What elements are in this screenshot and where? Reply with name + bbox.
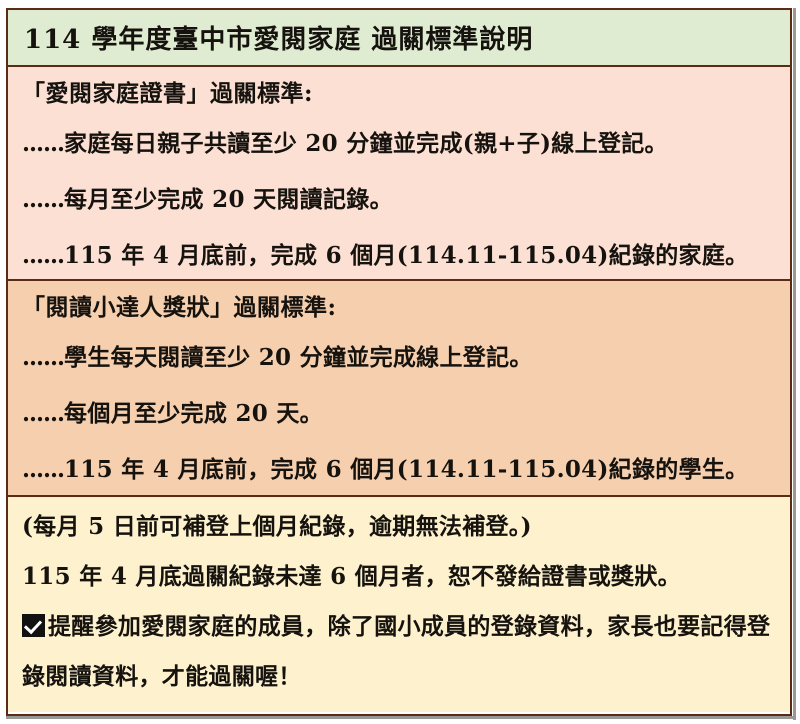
list-item: ......每月至少完成 20 天閱讀記錄。 — [22, 172, 776, 228]
bullet-marker: ...... — [22, 242, 64, 269]
bullet-marker: ...... — [22, 344, 64, 371]
standards-table: 114 學年度臺中市愛閱家庭 過關標準說明 「愛閱家庭證書」過關標準: ....… — [6, 8, 792, 716]
note-makeup-deadline: (每月 5 日前可補登上個月紀錄，逾期無法補登。) — [22, 502, 776, 552]
list-item: ......115 年 4 月底前，完成 6 個月(114.11-115.04)… — [22, 442, 776, 498]
section-reading-star: 「閱讀小達人獎狀」過關標準: ......學生每天閱讀至少 20 分鐘並完成線上… — [8, 281, 790, 497]
list-item: ......每個月至少完成 20 天。 — [22, 386, 776, 442]
note-parent-reminder-text: 提醒參加愛閱家庭的成員，除了國小成員的登錄資料，家長也要記得登錄閱讀資料，才能過… — [22, 613, 770, 690]
section-reading-star-heading: 「閱讀小達人獎狀」過關標準: — [22, 286, 776, 330]
bullet-marker: ...... — [22, 456, 64, 483]
bullet-text: 115 年 4 月底前，完成 6 個月(114.11-115.04)紀錄的學生。 — [64, 456, 748, 483]
list-item: ......家庭每日親子共讀至少 20 分鐘並完成(親+子)線上登記。 — [22, 116, 776, 172]
frame-shadow-right — [793, 8, 796, 720]
frame-shadow-bottom — [6, 716, 796, 719]
note-parent-reminder: 提醒參加愛閱家庭的成員，除了國小成員的登錄資料，家長也要記得登錄閱讀資料，才能過… — [22, 602, 776, 702]
document-frame: 114 學年度臺中市愛閱家庭 過關標準說明 「愛閱家庭證書」過關標準: ....… — [0, 0, 800, 724]
list-item: ......學生每天閱讀至少 20 分鐘並完成線上登記。 — [22, 330, 776, 386]
bullet-text: 115 年 4 月底前，完成 6 個月(114.11-115.04)紀錄的家庭。 — [64, 242, 748, 269]
page-title: 114 學年度臺中市愛閱家庭 過關標準說明 — [24, 19, 533, 56]
bullet-text: 每月至少完成 20 天閱讀記錄。 — [64, 186, 393, 213]
section-certificate: 「愛閱家庭證書」過關標準: ......家庭每日親子共讀至少 20 分鐘並完成(… — [8, 67, 790, 281]
section-notes: (每月 5 日前可補登上個月紀錄，逾期無法補登。) 115 年 4 月底過關紀錄… — [8, 497, 790, 712]
title-bar: 114 學年度臺中市愛閱家庭 過關標準說明 — [8, 10, 790, 67]
check-box-icon — [22, 614, 45, 637]
section-certificate-heading: 「愛閱家庭證書」過關標準: — [22, 72, 776, 116]
note-no-award-warning: 115 年 4 月底過關紀錄未達 6 個月者，恕不發給證書或獎狀。 — [22, 552, 776, 602]
bullet-text: 家庭每日親子共讀至少 20 分鐘並完成(親+子)線上登記。 — [64, 130, 668, 157]
list-item: ......115 年 4 月底前，完成 6 個月(114.11-115.04)… — [22, 228, 776, 284]
bullet-text: 學生每天閱讀至少 20 分鐘並完成線上登記。 — [64, 344, 533, 371]
bullet-text: 每個月至少完成 20 天。 — [64, 400, 323, 427]
bullet-marker: ...... — [22, 186, 64, 213]
bullet-marker: ...... — [22, 130, 64, 157]
bullet-marker: ...... — [22, 400, 64, 427]
